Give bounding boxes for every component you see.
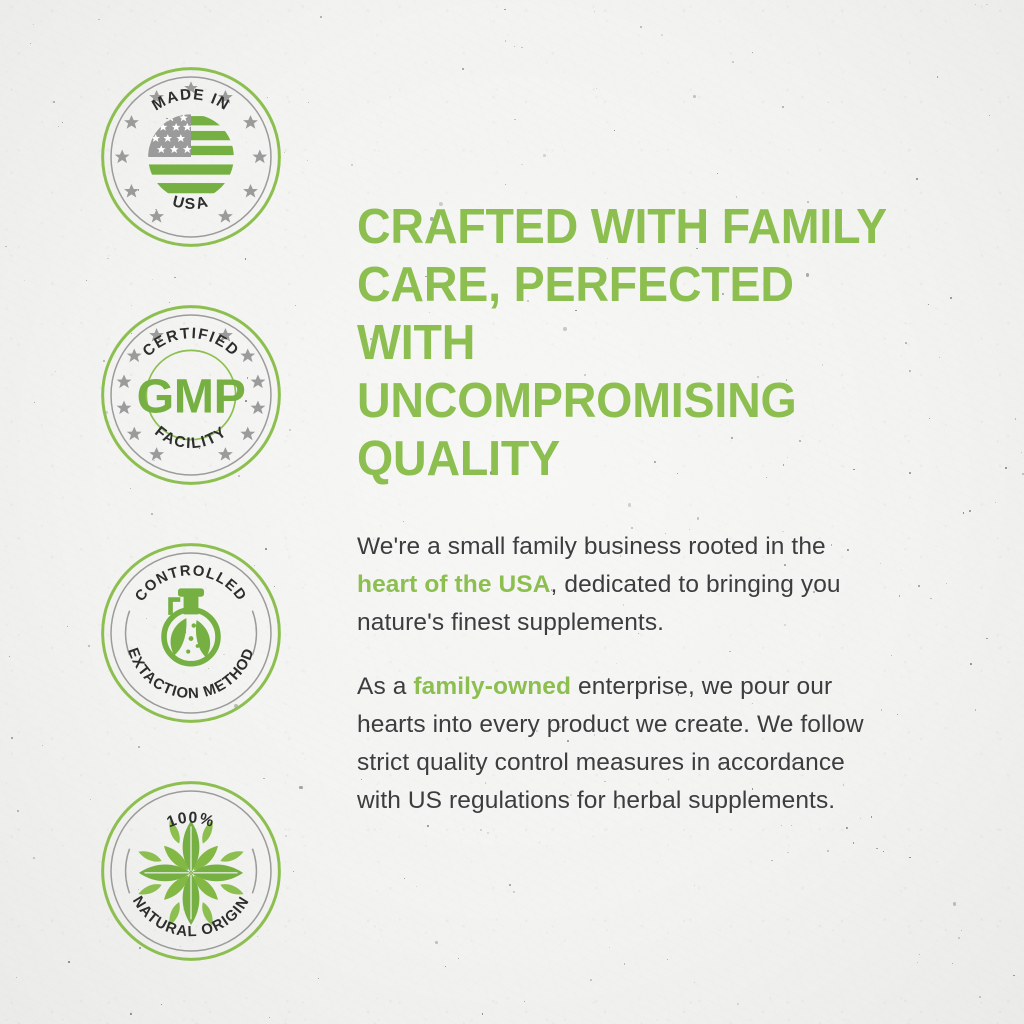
- poster-content: MADE IN USA: [0, 0, 1024, 1024]
- badge-bottom-label: EXTACTION METHOD: [124, 646, 258, 702]
- body-text-segment: As a: [357, 673, 413, 700]
- highlighted-phrase: family-owned: [413, 673, 571, 700]
- badge-top-label: CERTIFIED: [140, 325, 243, 360]
- body-paragraph-2: As a family-owned enterprise, we pour ou…: [357, 668, 887, 820]
- highlighted-phrase: heart of the USA: [357, 571, 551, 598]
- badge-gmp-certified: GMP CERTIFIED FACILITY: [98, 302, 284, 488]
- badge-bottom-label: USA: [171, 193, 212, 213]
- usa-flag-circle-icon: [145, 114, 238, 194]
- badge-left-arc: [126, 611, 130, 656]
- page-title: CRAFTED WITH FAMILY CARE, PERFECTED WITH…: [357, 198, 899, 488]
- body-text-segment: We're a small family business rooted in …: [357, 533, 826, 560]
- badge-made-in-usa: MADE IN USA: [98, 64, 284, 250]
- marketing-copy-column: CRAFTED WITH FAMILY CARE, PERFECTED WITH…: [357, 198, 927, 820]
- badge-top-label: MADE IN: [149, 86, 233, 114]
- gmp-text-icon: GMP: [137, 370, 246, 424]
- badge-controlled-extraction: CONTROLLED EXTACTION METHOD: [98, 540, 284, 726]
- badge-left-arc: [126, 849, 130, 894]
- badge-right-arc: [252, 849, 256, 894]
- badge-bottom-label: FACILITY: [151, 423, 230, 452]
- badge-natural-origin: 100% NATURAL ORIGIN: [98, 778, 284, 964]
- flask-leaf-icon: [164, 588, 218, 663]
- badge-right-arc: [252, 611, 256, 656]
- body-paragraph-1: We're a small family business rooted in …: [357, 528, 887, 642]
- poster-canvas: MADE IN USA: [0, 0, 1024, 1024]
- certification-badge-column: MADE IN USA: [98, 64, 288, 964]
